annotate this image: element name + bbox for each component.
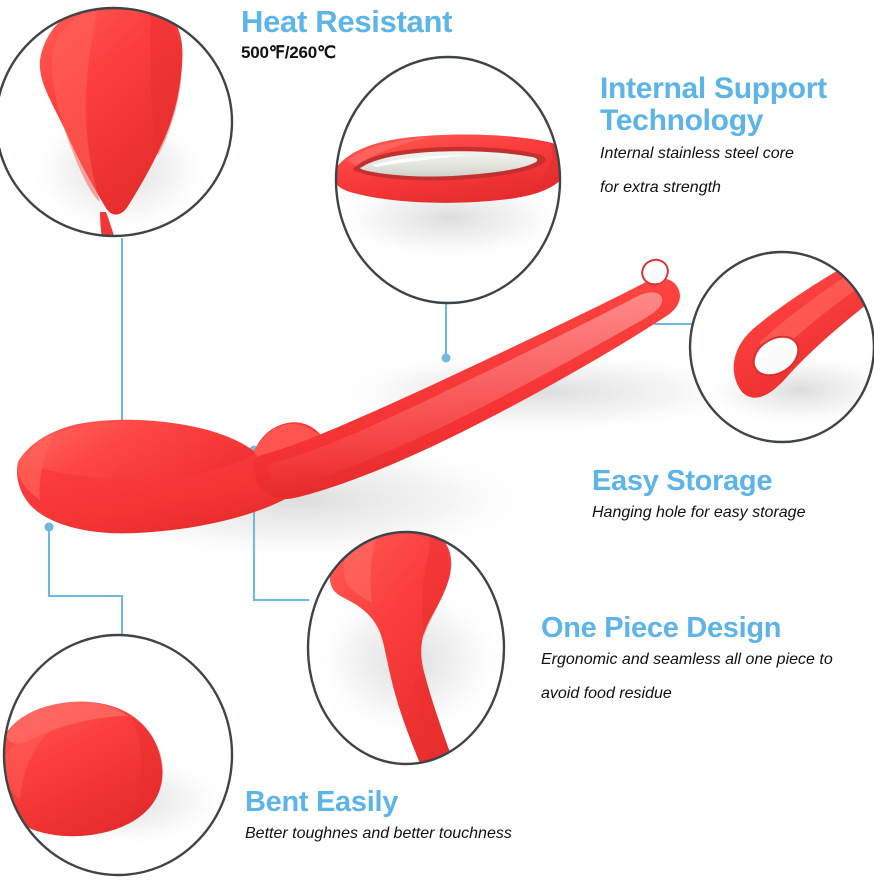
feature-easy-storage-title: Easy Storage — [592, 466, 805, 497]
leader-dot-bent — [45, 523, 54, 532]
callout-hanging-hole — [688, 244, 874, 450]
feature-bent-easily-line-1: Better toughnes and better touchness — [245, 825, 512, 843]
feature-one-piece-design-line-1: Ergonomic and seamless all one piece to — [541, 651, 833, 669]
feature-heat-resistant: Heat Resistant 500℉/260℃ — [241, 6, 452, 63]
callout-steel-core — [330, 50, 580, 320]
callout-one-piece — [306, 521, 516, 796]
feature-internal-support-line-1: Internal stainless steel core — [600, 145, 827, 163]
feature-internal-support-line-2: for extra strength — [600, 179, 827, 197]
feature-heat-resistant-title: Heat Resistant — [241, 6, 452, 39]
feature-one-piece-design-line-2: avoid food residue — [541, 685, 833, 703]
leader-bent-easily — [49, 527, 122, 637]
feature-easy-storage-line-1: Hanging hole for easy storage — [592, 504, 805, 522]
infographic-canvas: Heat Resistant 500℉/260℃ Internal Suppor… — [0, 0, 874, 883]
feature-internal-support-title-line1: Internal Support — [600, 73, 827, 105]
callout-bent-easily — [0, 632, 240, 883]
callout-spatula-head — [0, 0, 240, 252]
feature-bent-easily-title: Bent Easily — [245, 787, 512, 818]
feature-bent-easily: Bent Easily Better toughnes and better t… — [245, 787, 512, 843]
feature-internal-support-title-line2: Technology — [600, 105, 827, 137]
feature-easy-storage: Easy Storage Hanging hole for easy stora… — [592, 466, 805, 522]
feature-heat-resistant-subtitle: 500℉/260℃ — [241, 43, 452, 63]
feature-internal-support: Internal Support Technology Internal sta… — [600, 73, 827, 197]
feature-one-piece-design: One Piece Design Ergonomic and seamless … — [541, 613, 833, 703]
feature-one-piece-design-title: One Piece Design — [541, 613, 833, 644]
